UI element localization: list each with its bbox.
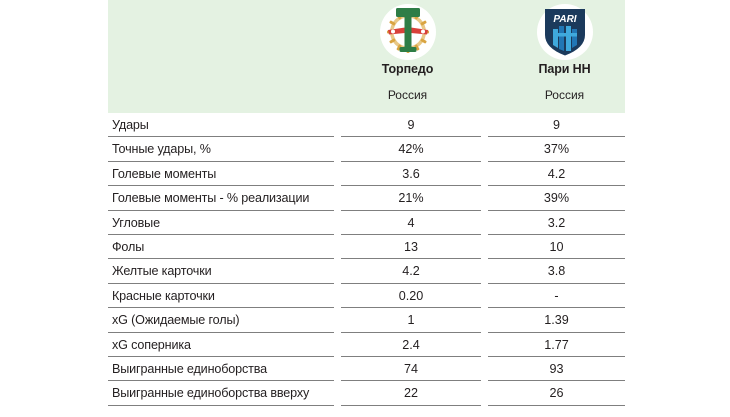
away-team-value: 37% xyxy=(488,137,625,161)
home-team-value: 0.20 xyxy=(341,284,481,308)
stat-label: Голевые моменты - % реализации xyxy=(112,186,334,210)
home-team-value: 3.6 xyxy=(341,162,481,186)
home-team-value: 13 xyxy=(341,235,481,259)
row-divider xyxy=(488,405,625,406)
home-team-value: 4.2 xyxy=(341,259,481,283)
away-team-value: 3.2 xyxy=(488,211,625,235)
home-team-value: 1 xyxy=(341,308,481,332)
stat-label: Выигранные единоборства xyxy=(112,357,334,381)
table-row: Голевые моменты3.64.2 xyxy=(108,162,625,186)
stat-label: Точные удары, % xyxy=(112,137,334,161)
home-team-value: 4 xyxy=(341,211,481,235)
table-row: Красные карточки0.20- xyxy=(108,284,625,308)
table-row: Фолы1310 xyxy=(108,235,625,259)
away-team-value: 10 xyxy=(488,235,625,259)
table-row: Выигранные единоборства7493 xyxy=(108,357,625,381)
table-row: Удары99 xyxy=(108,113,625,137)
home-team-value: 21% xyxy=(341,186,481,210)
stat-label: xG соперника xyxy=(112,333,334,357)
row-divider xyxy=(108,405,334,406)
away-team-header: PARI Пари НН Россия xyxy=(491,0,638,113)
pari-nn-crest-icon: PARI xyxy=(537,4,593,60)
home-team-country: Россия xyxy=(334,88,481,102)
away-team-value: 3.8 xyxy=(488,259,625,283)
table-row: Желтые карточки4.23.8 xyxy=(108,259,625,283)
away-team-value: 39% xyxy=(488,186,625,210)
home-team-value: 74 xyxy=(341,357,481,381)
home-team-value: 2.4 xyxy=(341,333,481,357)
table-row: xG соперника2.41.77 xyxy=(108,333,625,357)
away-team-crest: PARI xyxy=(536,3,594,61)
home-team-value: 22 xyxy=(341,381,481,405)
home-team-name: Торпедо xyxy=(334,62,481,76)
stat-label: Голевые моменты xyxy=(112,162,334,186)
torpedo-crest-icon xyxy=(380,4,436,60)
table-row: Точные удары, %42%37% xyxy=(108,137,625,161)
away-team-value: 1.39 xyxy=(488,308,625,332)
home-team-value: 9 xyxy=(341,113,481,137)
teams-header-band: Торпедо Россия xyxy=(108,0,625,113)
away-team-value: 9 xyxy=(488,113,625,137)
home-team-value: 42% xyxy=(341,137,481,161)
stat-label: Желтые карточки xyxy=(112,259,334,283)
away-team-country: Россия xyxy=(491,88,638,102)
stat-label: Удары xyxy=(112,113,334,137)
away-team-value: 4.2 xyxy=(488,162,625,186)
table-row: Голевые моменты - % реализации21%39% xyxy=(108,186,625,210)
stat-label: Угловые xyxy=(112,211,334,235)
row-divider xyxy=(341,405,481,406)
stat-label: Выигранные единоборства вверху xyxy=(112,381,334,405)
table-row: xG (Ожидаемые голы)11.39 xyxy=(108,308,625,332)
away-team-value: 1.77 xyxy=(488,333,625,357)
table-row: Угловые43.2 xyxy=(108,211,625,235)
home-team-crest xyxy=(379,3,437,61)
stat-label: Фолы xyxy=(112,235,334,259)
match-stats-card: Торпедо Россия xyxy=(0,0,730,417)
away-team-value: 93 xyxy=(488,357,625,381)
table-row: Выигранные единоборства вверху2226 xyxy=(108,381,625,405)
away-team-value: 26 xyxy=(488,381,625,405)
away-team-name: Пари НН xyxy=(491,62,638,76)
stats-table: Удары99Точные удары, %42%37%Голевые моме… xyxy=(108,113,625,406)
stat-label: Красные карточки xyxy=(112,284,334,308)
home-team-header: Торпедо Россия xyxy=(334,0,481,113)
stat-label: xG (Ожидаемые голы) xyxy=(112,308,334,332)
away-team-value: - xyxy=(488,284,625,308)
pari-wordmark: PARI xyxy=(553,14,576,25)
